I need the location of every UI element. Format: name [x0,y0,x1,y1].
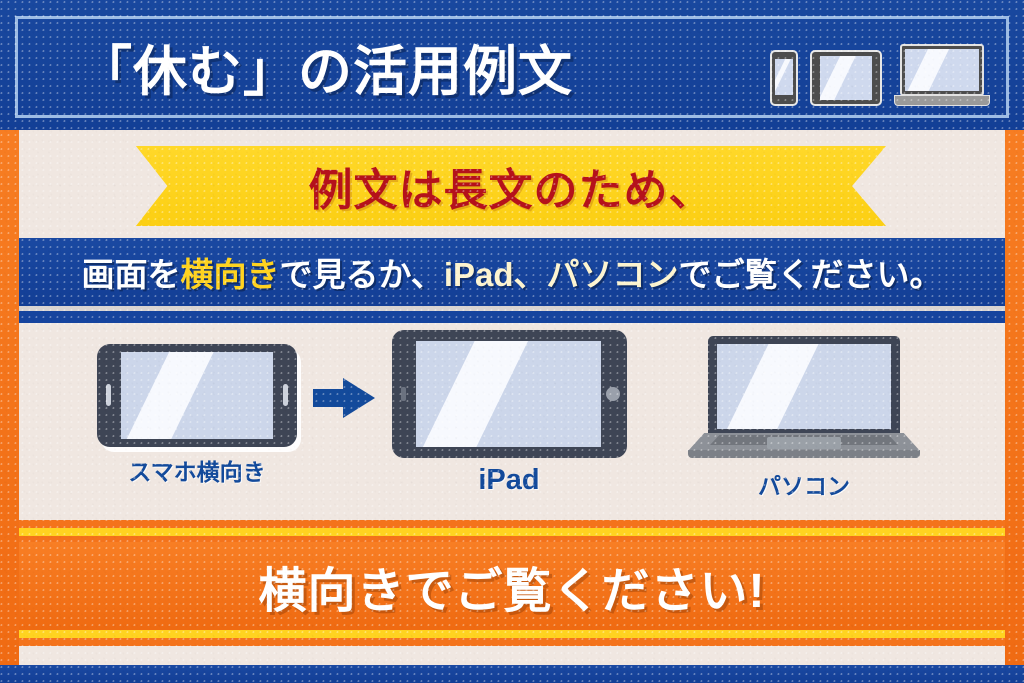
instruction-segment-5: パソコン [547,256,679,293]
laptop-screen [905,49,979,91]
tablet-home-button [606,387,620,401]
laptop-foot [688,450,920,458]
right-orange-rail [1005,130,1024,683]
footer-bar [0,665,1024,683]
header-device-icon-group [770,26,990,106]
device-cell-smartphone: スマホ横向き [87,344,307,487]
band-top-orange-stripe [19,520,1005,528]
laptop-icon [688,336,920,461]
smartphone-screen [775,59,793,95]
arrow-head [343,378,375,418]
screen-gloss [416,341,534,447]
yellow-ribbon-banner: 例文は長文のため、 [136,146,886,226]
device-comparison-row: スマホ横向き iPad [19,330,1005,515]
device-cell-ipad: iPad [374,330,644,497]
device-label-laptop: パソコン [664,467,944,501]
instruction-text: 画面を横向きで見るか、iPad、パソコンでご覧ください。 [81,248,942,296]
laptop-icon [894,44,990,106]
instruction-segment-1: 画面を [81,256,180,293]
instruction-segment-2: 横向き [180,256,279,293]
smartphone-speaker-left [106,384,111,406]
tablet-screen [416,341,601,447]
laptop-trackpad [767,437,841,449]
smartphone-portrait-icon [770,50,798,106]
instruction-segment-6: でご覧ください。 [679,256,943,293]
tablet-camera [401,387,406,401]
screen-gloss [775,59,793,95]
laptop-lid [900,44,984,96]
arrow-shaft [313,389,347,407]
tablet-screen [820,56,872,100]
smartphone-landscape-icon [97,344,297,447]
ribbon-text: 例文は長文のため、 [309,154,714,218]
smartphone-speaker-right [283,384,288,406]
laptop-lid [708,336,900,436]
arrow-right-icon [313,378,375,418]
bottom-band-text: 横向きでご覧ください! [259,551,766,621]
screen-gloss [121,352,218,439]
body-canvas: 例文は長文のため、 画面を横向きで見るか、iPad、パソコンでご覧ください。 [19,130,1005,683]
instruction-bar-under-strip [19,311,1005,323]
instruction-bar: 画面を横向きで見るか、iPad、パソコンでご覧ください。 [19,238,1005,306]
bottom-call-to-action-band: 横向きでご覧ください! [19,542,1005,630]
header-banner: 「休む」の活用例文 [0,0,1024,130]
smartphone-screen [121,352,273,439]
screen-gloss [719,344,823,429]
band-bottom-orange-stripe [19,638,1005,646]
laptop-screen [717,344,891,429]
device-label-smartphone: スマホ横向き [87,453,307,487]
ribbon-container: 例文は長文のため、 [19,146,1005,228]
tablet-landscape-icon [392,330,627,458]
page-title: 「休む」の活用例文 [78,20,573,112]
slide-canvas: 「休む」の活用例文 [0,0,1024,683]
laptop-base [894,95,990,106]
band-top-yellow-stripe [19,528,1005,536]
band-bottom-yellow-stripe [19,630,1005,638]
screen-gloss [820,56,859,100]
device-cell-laptop: パソコン [664,336,944,501]
instruction-segment-4: iPad、 [444,256,547,293]
tablet-landscape-icon [810,50,882,106]
screen-gloss [905,49,952,91]
instruction-segment-3: で見るか、 [279,256,443,293]
device-label-ipad: iPad [374,464,644,497]
left-orange-rail [0,130,19,683]
